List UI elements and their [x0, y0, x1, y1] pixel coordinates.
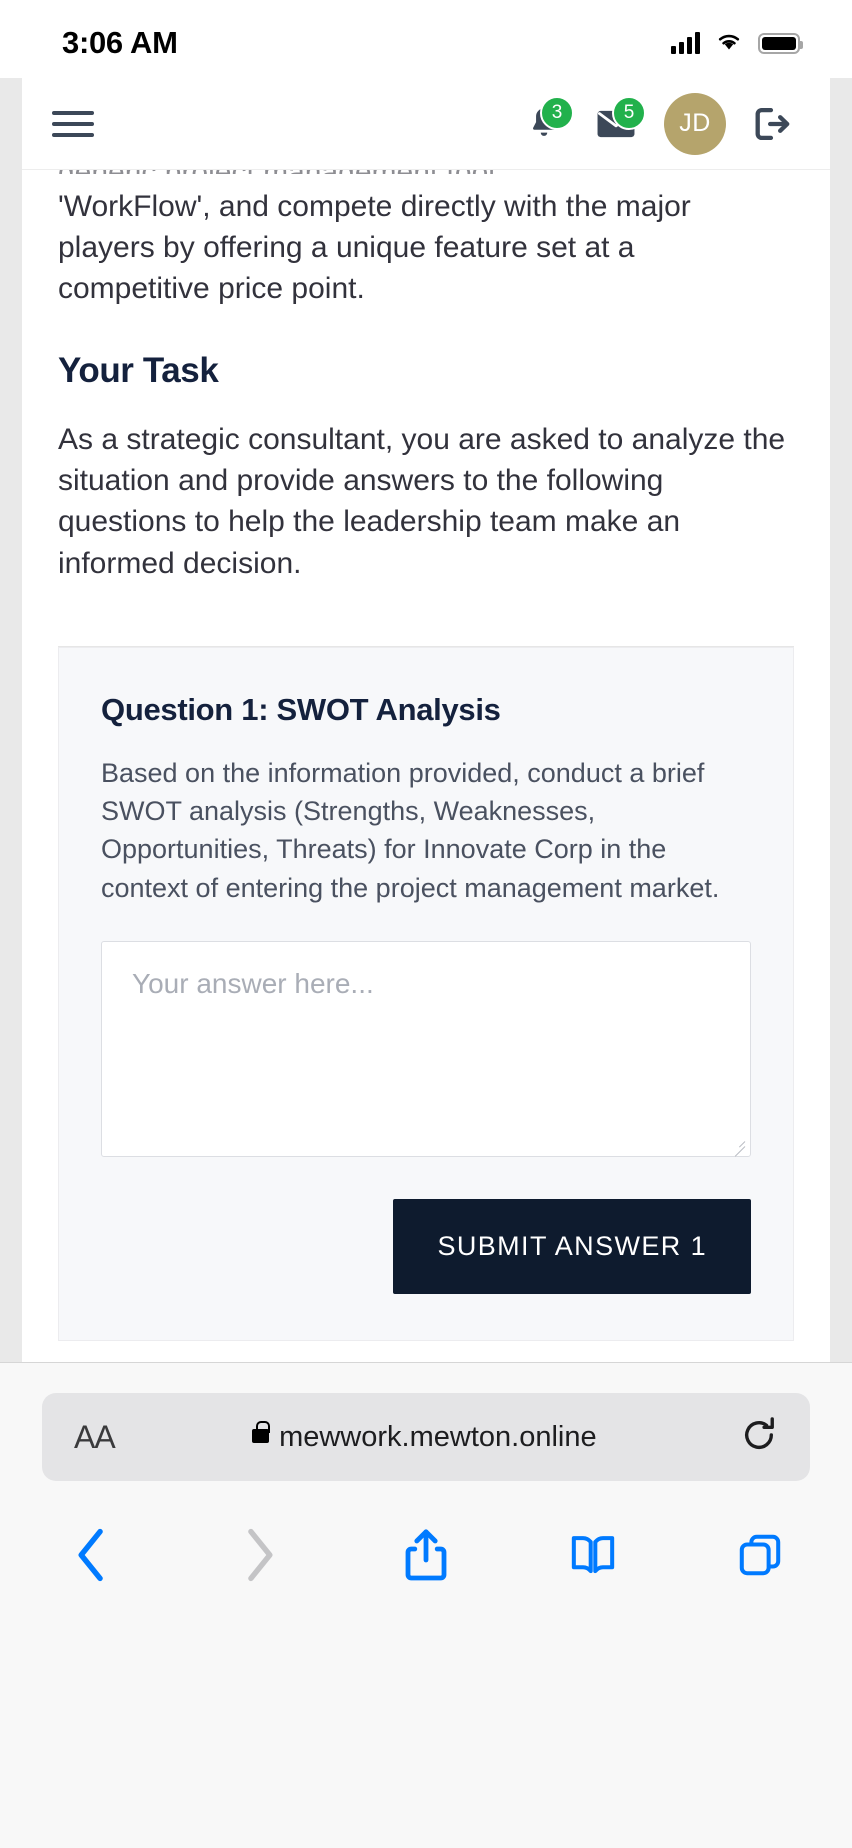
browser-viewport: 3 5 JD generic project manage — [0, 78, 852, 1362]
question-title: Question 1: SWOT Analysis — [101, 692, 751, 728]
browser-toolbar — [0, 1481, 852, 1585]
safari-bottom-bar: AA mewwork.mewton.online — [0, 1362, 852, 1848]
hamburger-menu-icon[interactable] — [52, 111, 94, 137]
submit-answer-1-button[interactable]: SUBMIT ANSWER 1 — [393, 1199, 751, 1294]
clipped-paragraph-top: generic project management tool, — [58, 170, 794, 174]
status-bar-time: 3:06 AM — [62, 17, 178, 61]
clipped-text-partial: generic project management tool, — [58, 170, 794, 174]
task-paragraph: As a strategic consultant, you are asked… — [58, 419, 794, 583]
status-bar-indicators — [671, 22, 800, 57]
url-display[interactable]: mewwork.mewton.online — [109, 1421, 740, 1454]
answer-field-wrapper — [101, 941, 751, 1157]
battery-icon — [758, 33, 800, 54]
tabs-button[interactable] — [730, 1525, 790, 1585]
intro-paragraph: 'WorkFlow', and compete directly with th… — [58, 186, 794, 309]
messages-button[interactable]: 5 — [592, 100, 640, 148]
notifications-badge: 3 — [540, 96, 574, 130]
url-bar[interactable]: AA mewwork.mewton.online — [42, 1393, 810, 1481]
cellular-signal-icon — [671, 32, 700, 54]
answer-textarea[interactable] — [101, 941, 751, 1157]
share-button[interactable] — [396, 1525, 456, 1585]
lock-icon — [252, 1429, 269, 1443]
ios-status-bar: 3:06 AM — [0, 0, 852, 78]
question-card: Question 1: SWOT Analysis Based on the i… — [58, 647, 794, 1341]
wifi-icon — [714, 30, 744, 57]
page-content: generic project management tool, 'WorkFl… — [22, 170, 830, 1362]
url-text: mewwork.mewton.online — [279, 1421, 597, 1454]
submit-row: SUBMIT ANSWER 1 — [101, 1199, 751, 1294]
your-task-heading: Your Task — [58, 351, 794, 391]
logout-icon — [754, 106, 794, 142]
messages-badge: 5 — [612, 96, 646, 130]
question-prompt: Based on the information provided, condu… — [101, 754, 751, 907]
header-actions: 3 5 JD — [520, 93, 798, 155]
notifications-button[interactable]: 3 — [520, 100, 568, 148]
app-header: 3 5 JD — [22, 78, 830, 170]
bookmarks-button[interactable] — [563, 1525, 623, 1585]
logout-button[interactable] — [750, 100, 798, 148]
avatar[interactable]: JD — [664, 93, 726, 155]
back-button[interactable] — [62, 1525, 122, 1585]
reload-button[interactable] — [740, 1415, 778, 1460]
forward-button — [229, 1525, 289, 1585]
